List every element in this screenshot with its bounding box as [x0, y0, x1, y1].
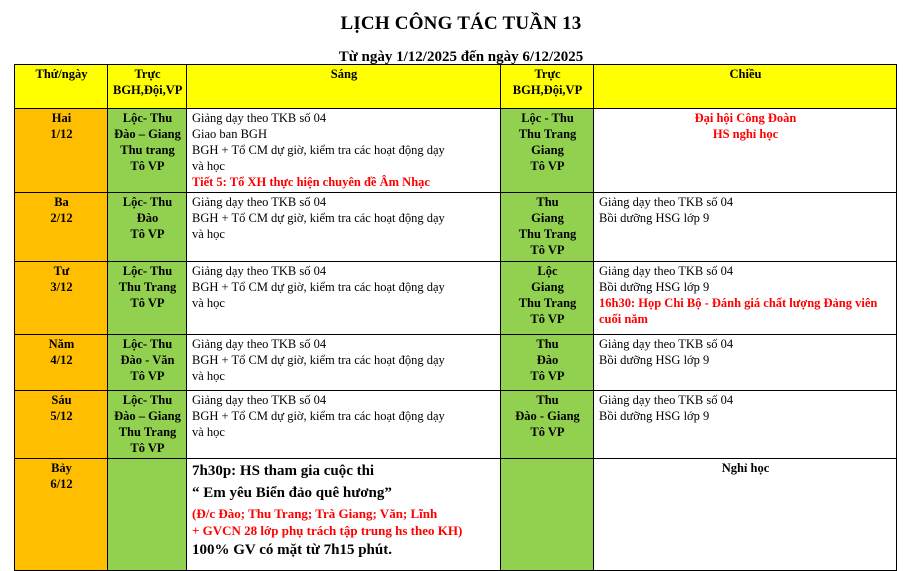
activity-line: Giảng dạy theo TKB số 04 — [599, 393, 892, 409]
table-row: Ba 2/12 Lộc- Thu Đào Tô VP Giảng dạy the… — [15, 193, 897, 262]
page-title: LỊCH CÔNG TÁC TUẦN 13 — [0, 0, 922, 35]
col-header-duty-morning-line2: BGH,Đội,VP — [113, 83, 182, 99]
duty-name: Đào - Giang — [506, 409, 589, 425]
day-name: Ba — [20, 195, 103, 211]
afternoon-cell: Giảng dạy theo TKB số 04 Bồi dưỡng HSG l… — [594, 334, 897, 390]
table-row: Tư 3/12 Lộc- Thu Thu Trang Tô VP Giảng d… — [15, 261, 897, 334]
activity-line: và học — [192, 425, 496, 441]
duty-afternoon-cell: Lộc Giang Thu Trang Tô VP — [501, 261, 594, 334]
activity-line: Bồi dưỡng HSG lớp 9 — [599, 280, 892, 296]
activity-line: Giảng dạy theo TKB số 04 — [599, 195, 892, 211]
afternoon-cell: Giảng dạy theo TKB số 04 Bồi dưỡng HSG l… — [594, 390, 897, 459]
duty-morning-cell: Lộc- Thu Đào – Giang Thu Trang Tô VP — [108, 390, 187, 459]
activity-line: BGH + Tổ CM dự giờ, kiểm tra các hoạt độ… — [192, 143, 496, 159]
activity-line: 7h30p: HS tham gia cuộc thi — [192, 461, 496, 483]
duty-name: Thu trang — [113, 143, 182, 159]
duty-name: Thu — [506, 337, 589, 353]
duty-morning-cell: Lộc- Thu Đào – Giang Thu trang Tô VP — [108, 109, 187, 193]
morning-cell: Giảng dạy theo TKB số 04 BGH + Tổ CM dự … — [187, 261, 501, 334]
day-cell: Bảy 6/12 — [15, 459, 108, 571]
col-header-duty-afternoon-line2: BGH,Đội,VP — [506, 83, 589, 99]
activity-line: Giảng dạy theo TKB số 04 — [192, 393, 496, 409]
page-subtitle: Từ ngày 1/12/2025 đến ngày 6/12/2025 — [0, 35, 922, 66]
duty-morning-cell-empty — [108, 459, 187, 571]
schedule-table-wrapper: Thứ/ngày Trực BGH,Đội,VP Sáng Trực BGH,Đ… — [14, 64, 896, 571]
activity-line: và học — [192, 369, 496, 385]
activity-line: BGH + Tổ CM dự giờ, kiểm tra các hoạt độ… — [192, 211, 496, 227]
morning-cell: 7h30p: HS tham gia cuộc thi “ Em yêu Biể… — [187, 459, 501, 571]
day-date: 5/12 — [20, 409, 103, 425]
duty-name: Tô VP — [506, 425, 589, 441]
table-header-row: Thứ/ngày Trực BGH,Đội,VP Sáng Trực BGH,Đ… — [15, 65, 897, 109]
duty-name: Lộc- Thu — [113, 393, 182, 409]
duty-name: Lộc- Thu — [113, 111, 182, 127]
duty-afternoon-cell: Thu Đào Tô VP — [501, 334, 594, 390]
duty-afternoon-cell: Thu Giang Thu Trang Tô VP — [501, 193, 594, 262]
activity-line: Giảng dạy theo TKB số 04 — [599, 337, 892, 353]
duty-name: Tô VP — [506, 159, 589, 175]
duty-morning-cell: Lộc- Thu Đào - Văn Tô VP — [108, 334, 187, 390]
activity-line: Giao ban BGH — [192, 127, 496, 143]
weekly-schedule-table: Thứ/ngày Trực BGH,Đội,VP Sáng Trực BGH,Đ… — [14, 64, 897, 571]
table-row: Bảy 6/12 7h30p: HS tham gia cuộc thi “ E… — [15, 459, 897, 571]
day-date: 1/12 — [20, 127, 103, 143]
activity-line-highlighted: + GVCN 28 lớp phụ trách tập trung hs the… — [192, 522, 496, 540]
duty-name: Lộc- Thu — [113, 264, 182, 280]
morning-cell: Giảng dạy theo TKB số 04 Giao ban BGH BG… — [187, 109, 501, 193]
day-date: 3/12 — [20, 280, 103, 296]
duty-name: Đào - Văn — [113, 353, 182, 369]
duty-name: Lộc — [506, 264, 589, 280]
activity-line: BGH + Tổ CM dự giờ, kiểm tra các hoạt độ… — [192, 280, 496, 296]
afternoon-cell: Giảng dạy theo TKB số 04 Bồi dưỡng HSG l… — [594, 193, 897, 262]
day-cell: Hai 1/12 — [15, 109, 108, 193]
day-date: 6/12 — [20, 477, 103, 493]
duty-afternoon-cell-empty — [501, 459, 594, 571]
activity-line: Bồi dưỡng HSG lớp 9 — [599, 409, 892, 425]
duty-name: Đào – Giang — [113, 409, 182, 425]
activity-line: Giảng dạy theo TKB số 04 — [192, 264, 496, 280]
activity-line: Bồi dưỡng HSG lớp 9 — [599, 211, 892, 227]
activity-line: 100% GV có mặt từ 7h15 phút. — [192, 540, 496, 562]
activity-line: “ Em yêu Biển đảo quê hương” — [192, 483, 496, 505]
morning-cell: Giảng dạy theo TKB số 04 BGH + Tổ CM dự … — [187, 390, 501, 459]
afternoon-cell: Đại hội Công Đoàn HS nghỉ học — [594, 109, 897, 193]
duty-name: Đào – Giang — [113, 127, 182, 143]
day-name: Sáu — [20, 393, 103, 409]
duty-name: Thu Trang — [506, 296, 589, 312]
day-name: Hai — [20, 111, 103, 127]
day-name: Tư — [20, 264, 103, 280]
table-row: Hai 1/12 Lộc- Thu Đào – Giang Thu trang … — [15, 109, 897, 193]
activity-line: BGH + Tổ CM dự giờ, kiểm tra các hoạt độ… — [192, 409, 496, 425]
day-cell: Tư 3/12 — [15, 261, 108, 334]
activity-line: và học — [192, 159, 496, 175]
schedule-page: LỊCH CÔNG TÁC TUẦN 13 Từ ngày 1/12/2025 … — [0, 0, 922, 559]
day-date: 2/12 — [20, 211, 103, 227]
duty-name: Tô VP — [113, 296, 182, 312]
col-header-duty-morning: Trực BGH,Đội,VP — [108, 65, 187, 109]
duty-morning-cell: Lộc- Thu Thu Trang Tô VP — [108, 261, 187, 334]
col-header-duty-afternoon-line1: Trực — [506, 67, 589, 83]
table-row: Năm 4/12 Lộc- Thu Đào - Văn Tô VP Giảng … — [15, 334, 897, 390]
day-name: Năm — [20, 337, 103, 353]
activity-line: Giảng dạy theo TKB số 04 — [192, 195, 496, 211]
duty-name: Giang — [506, 211, 589, 227]
duty-name: Tô VP — [113, 159, 182, 175]
duty-morning-cell: Lộc- Thu Đào Tô VP — [108, 193, 187, 262]
duty-name: Thu Trang — [506, 127, 589, 143]
activity-line-highlighted: Đại hội Công Đoàn — [599, 111, 892, 127]
activity-line-highlighted: (Đ/c Đào; Thu Trang; Trà Giang; Văn; Lĩn… — [192, 505, 496, 523]
duty-name: Lộc - Thu — [506, 111, 589, 127]
duty-name: Tô VP — [113, 441, 182, 457]
duty-name: Thu — [506, 195, 589, 211]
activity-line: Giảng dạy theo TKB số 04 — [192, 111, 496, 127]
morning-cell: Giảng dạy theo TKB số 04 BGH + Tổ CM dự … — [187, 193, 501, 262]
duty-name: Đào — [113, 211, 182, 227]
duty-name: Tô VP — [113, 369, 182, 385]
day-cell: Sáu 5/12 — [15, 390, 108, 459]
morning-cell: Giảng dạy theo TKB số 04 BGH + Tổ CM dự … — [187, 334, 501, 390]
duty-name: Đào — [506, 353, 589, 369]
activity-line-highlighted: HS nghỉ học — [599, 127, 892, 143]
activity-line: và học — [192, 296, 496, 312]
day-date: 4/12 — [20, 353, 103, 369]
duty-name: Thu Trang — [113, 280, 182, 296]
duty-name: Tô VP — [506, 243, 589, 259]
col-header-morning: Sáng — [187, 65, 501, 109]
day-name: Bảy — [20, 461, 103, 477]
duty-name: Giang — [506, 280, 589, 296]
afternoon-cell: Nghỉ học — [594, 459, 897, 571]
activity-line: Giảng dạy theo TKB số 04 — [192, 337, 496, 353]
activity-line-highlighted: 16h30: Họp Chi Bộ - Đánh giá chất lượng … — [599, 296, 892, 328]
duty-name: Thu Trang — [506, 227, 589, 243]
activity-line-highlighted: Tiết 5: Tổ XH thực hiện chuyên đề Âm Nhạ… — [192, 175, 496, 191]
afternoon-cell: Giảng dạy theo TKB số 04 Bồi dưỡng HSG l… — [594, 261, 897, 334]
duty-name: Tô VP — [113, 227, 182, 243]
col-header-duty-morning-line1: Trực — [113, 67, 182, 83]
col-header-day: Thứ/ngày — [15, 65, 108, 109]
duty-name: Tô VP — [506, 312, 589, 328]
duty-name: Lộc- Thu — [113, 337, 182, 353]
activity-line: và học — [192, 227, 496, 243]
duty-name: Thu Trang — [113, 425, 182, 441]
activity-line: Giảng dạy theo TKB số 04 — [599, 264, 892, 280]
duty-name: Thu — [506, 393, 589, 409]
duty-afternoon-cell: Lộc - Thu Thu Trang Giang Tô VP — [501, 109, 594, 193]
duty-afternoon-cell: Thu Đào - Giang Tô VP — [501, 390, 594, 459]
day-cell: Ba 2/12 — [15, 193, 108, 262]
col-header-afternoon: Chiều — [594, 65, 897, 109]
duty-name: Lộc- Thu — [113, 195, 182, 211]
duty-name: Giang — [506, 143, 589, 159]
table-row: Sáu 5/12 Lộc- Thu Đào – Giang Thu Trang … — [15, 390, 897, 459]
activity-line: Bồi dưỡng HSG lớp 9 — [599, 353, 892, 369]
activity-line: BGH + Tổ CM dự giờ, kiểm tra các hoạt độ… — [192, 353, 496, 369]
col-header-duty-afternoon: Trực BGH,Đội,VP — [501, 65, 594, 109]
duty-name: Tô VP — [506, 369, 589, 385]
day-cell: Năm 4/12 — [15, 334, 108, 390]
